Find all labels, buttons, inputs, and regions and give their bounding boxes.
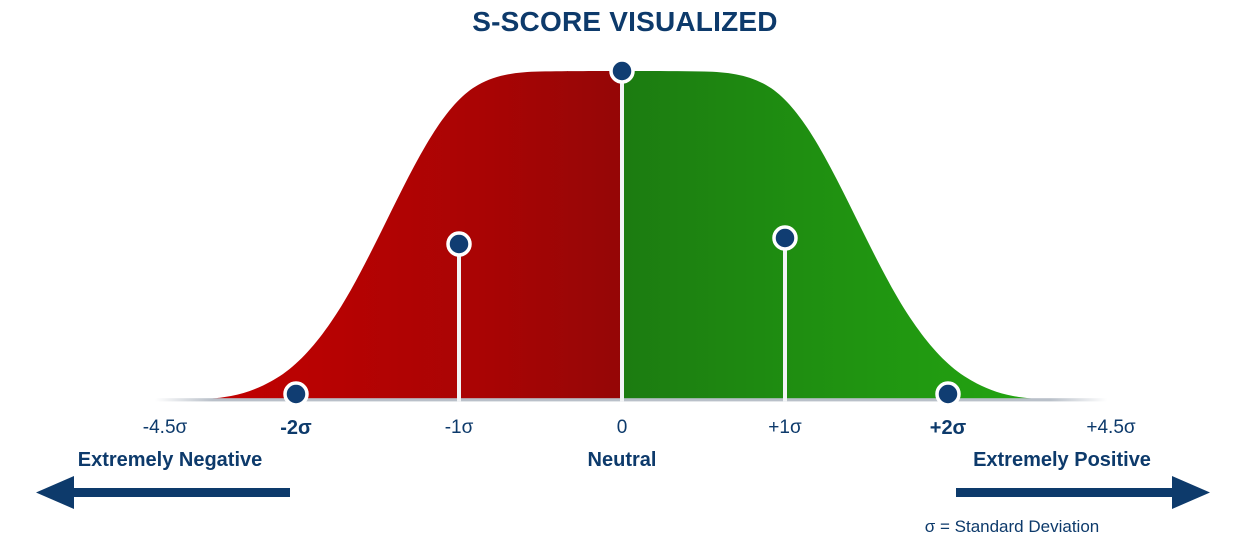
tick-label-plus-2-sigma: +2σ (930, 418, 966, 438)
tick-label-minus-2-sigma: -2σ (280, 418, 311, 438)
tick-label-zero-sigma: 0 (617, 418, 628, 437)
arrow-left-negative (36, 476, 290, 509)
direction-arrows (36, 476, 1210, 509)
tick-label-minus-4_5-sigma: -4.5σ (143, 418, 187, 437)
sigma-legend-footnote: σ = Standard Deviation (925, 518, 1099, 535)
marker-dot-plus-2-sigma[interactable] (937, 383, 959, 405)
marker-dot-zero-sigma[interactable] (611, 60, 633, 82)
s-score-visualization: S-SCORE VISUALIZED (0, 0, 1250, 554)
marker-dot-minus-1-sigma[interactable] (448, 233, 470, 255)
zone-label-neutral: Neutral (588, 450, 657, 470)
tick-label-minus-1-sigma: -1σ (445, 418, 474, 437)
arrow-right-positive (956, 476, 1210, 509)
tick-label-plus-4_5-sigma: +4.5σ (1086, 418, 1135, 437)
zone-label-extremely-negative: Extremely Negative (78, 450, 263, 470)
zone-label-extremely-positive: Extremely Positive (973, 450, 1151, 470)
marker-dot-plus-1-sigma[interactable] (774, 227, 796, 249)
tick-label-plus-1-sigma: +1σ (768, 418, 801, 437)
marker-dot-minus-2-sigma[interactable] (285, 383, 307, 405)
